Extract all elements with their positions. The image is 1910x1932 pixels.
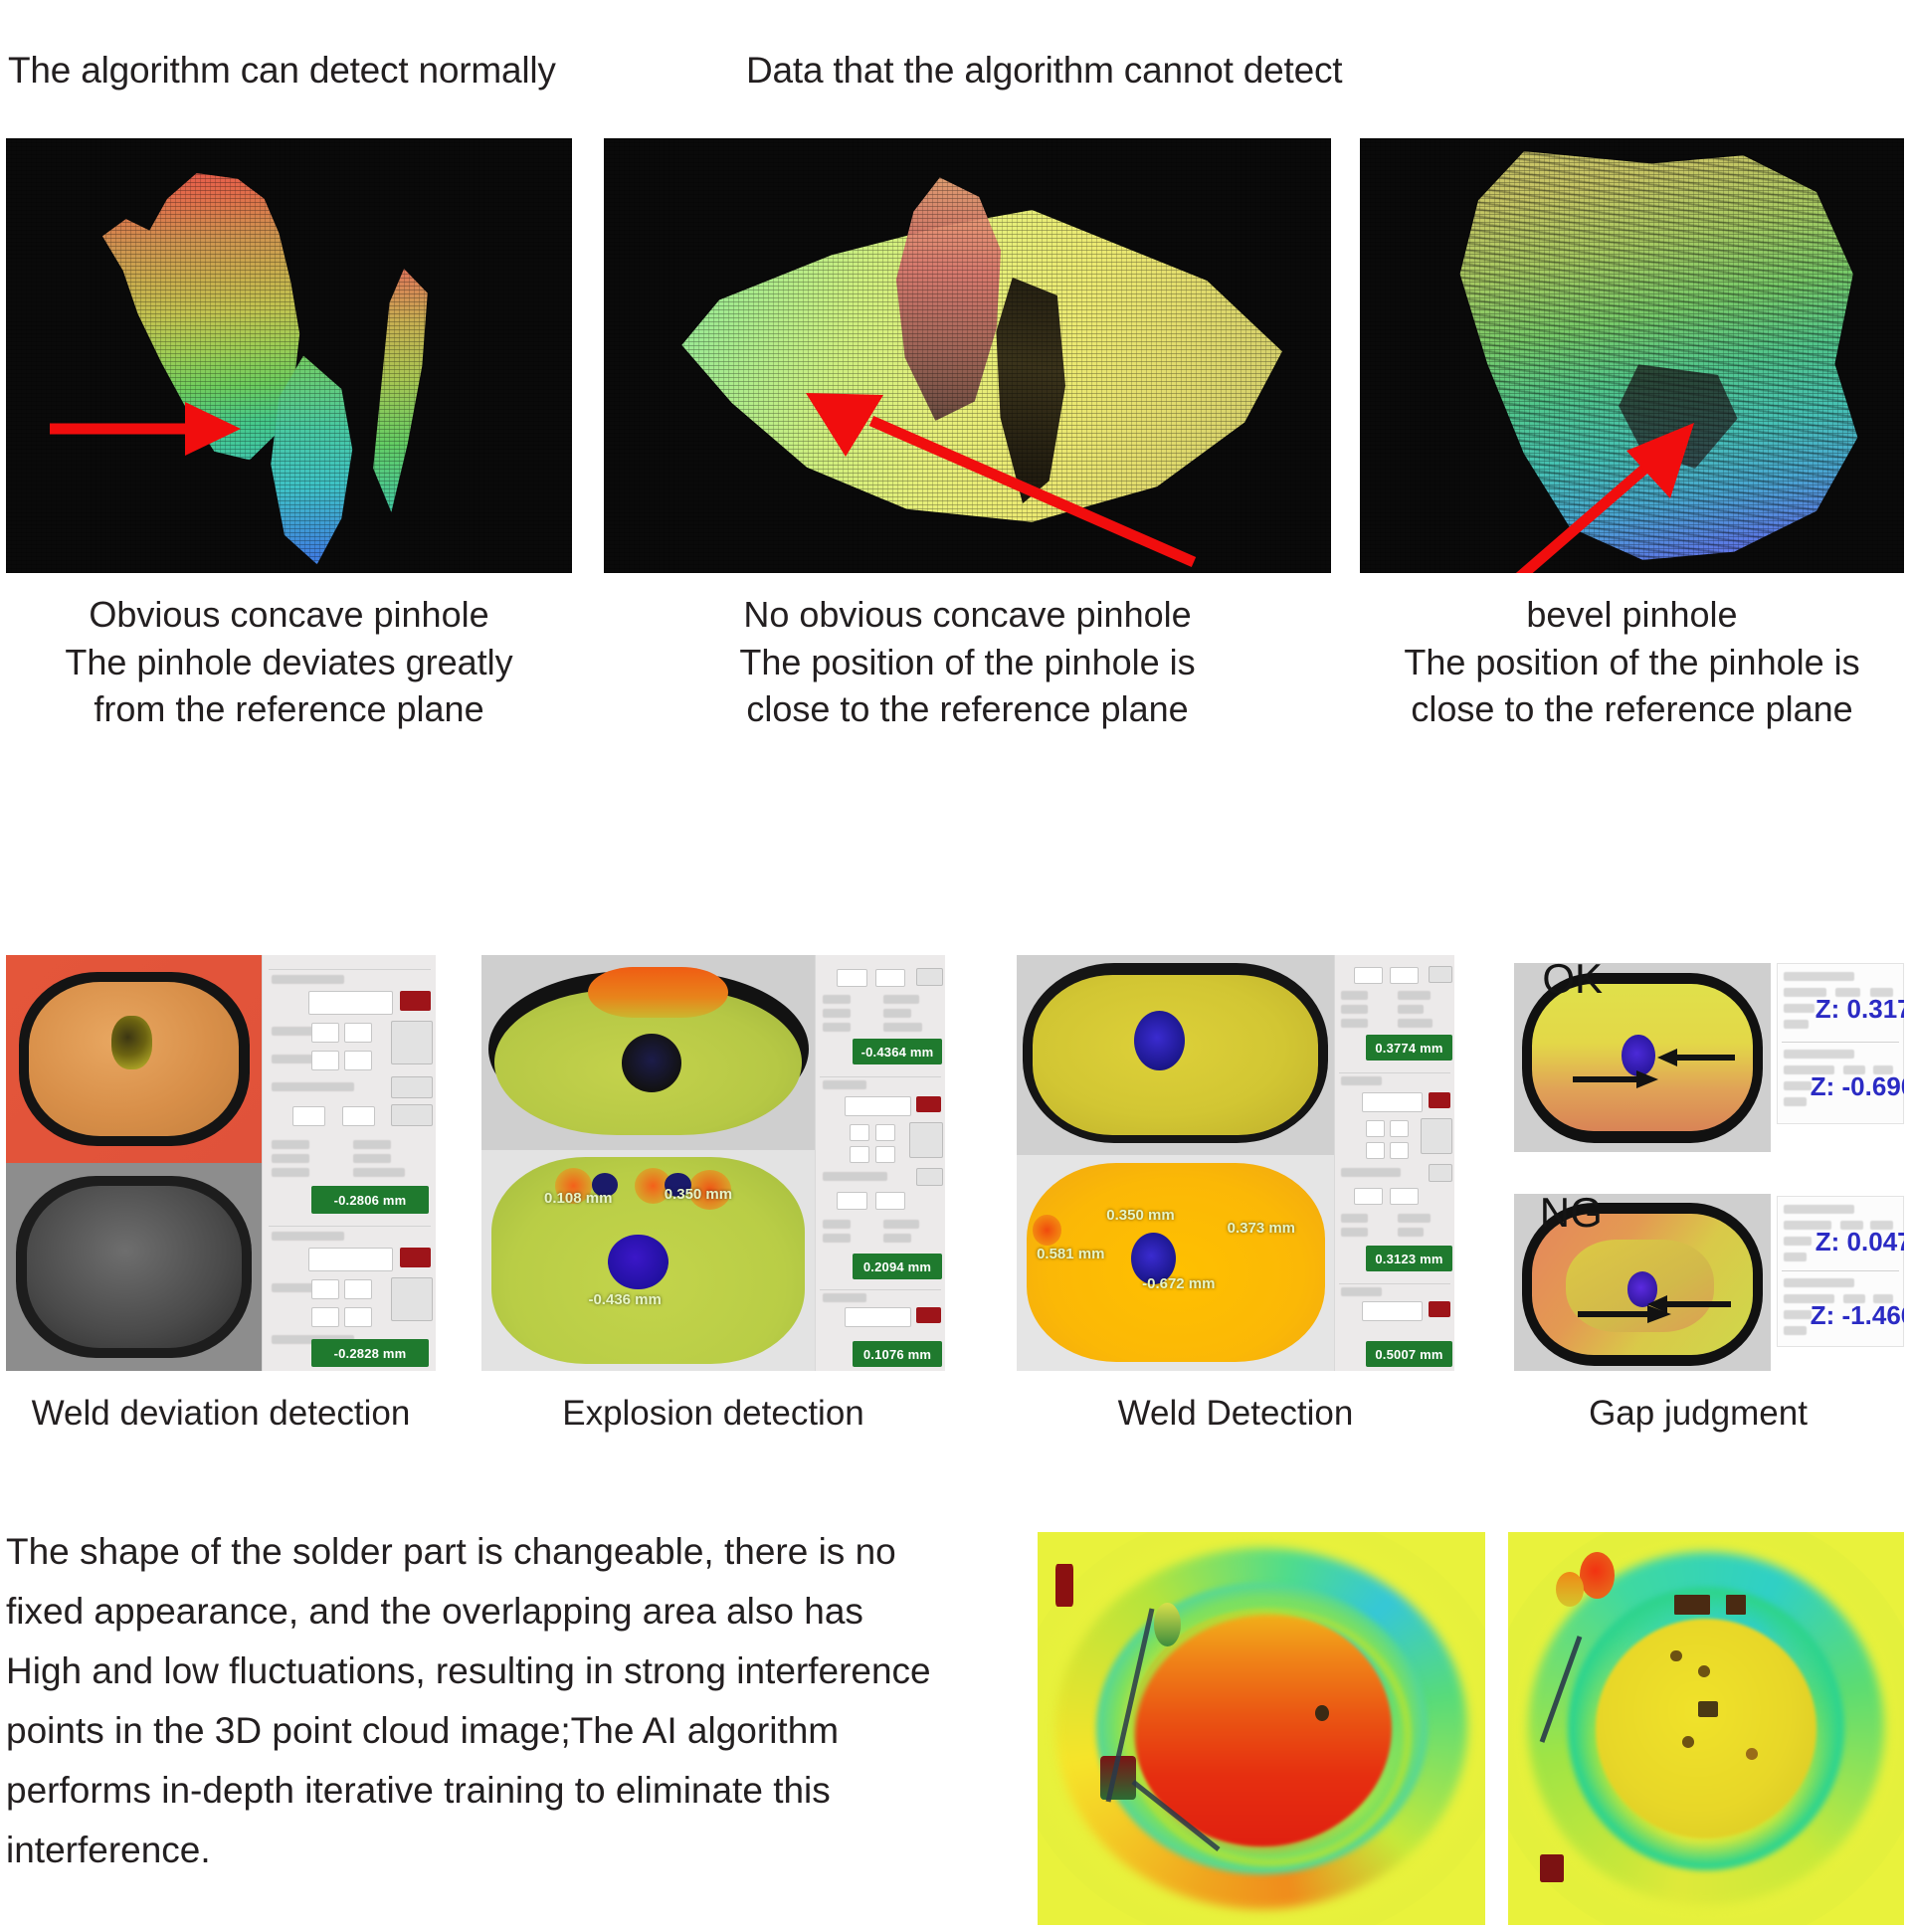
detection-panel-explosion: 0.108 mm 0.350 mm -0.436 mm -0.4364 mm [481, 955, 945, 1371]
caption-line: Obvious concave pinhole [6, 591, 572, 639]
detection-panel-weld: 0.350 mm 0.581 mm 0.373 mm -0.672 mm [1017, 955, 1454, 1371]
gap-z-value-bottom: Z: -1.466 [1811, 1300, 1904, 1331]
caption-line: No obvious concave pinhole [604, 591, 1331, 639]
overlay-measure-2: 0.350 mm [642, 1186, 755, 1205]
overlay-measure-value: 0.350 mm [1106, 1207, 1174, 1224]
detection-result-value: -0.2828 mm [311, 1339, 429, 1367]
header-left: The algorithm can detect normally [8, 50, 556, 93]
detection-image-3d [1017, 955, 1334, 1155]
detection-image-color [6, 955, 262, 1163]
summary-line: performs in-depth iterative training to … [6, 1761, 1011, 1821]
detection-caption-weld: Weld Detection [1017, 1393, 1454, 1435]
pointcloud-surface-main [96, 173, 391, 460]
detection-caption-gap-judgment: Gap judgment [1492, 1393, 1904, 1435]
overlay-measure-2: 0.350 mm [1099, 1207, 1182, 1226]
detection-sidepanel: -0.4364 mm 0.2094 mm 0.1076 mm [815, 955, 945, 1371]
gap-image-ok: OK [1514, 963, 1771, 1152]
pointcloud-caption-1: Obvious concave pinhole The pinhole devi… [6, 591, 572, 733]
detection-panel-weld-deviation: -0.2806 mm -0.2828 mm [6, 955, 436, 1371]
pointer-line-icon [1536, 1631, 1586, 1750]
summary-line: High and low fluctuations, resulting in … [6, 1642, 1011, 1701]
caption-line: from the reference plane [6, 685, 572, 733]
detection-image-stack: 0.350 mm 0.581 mm 0.373 mm -0.672 mm [1017, 955, 1334, 1371]
overlay-measure-4: -0.672 mm [1131, 1275, 1227, 1294]
heatmap-image-solder-ring-yellow-center [1508, 1532, 1904, 1925]
detection-sidepanel: -0.2806 mm -0.2828 mm [262, 955, 436, 1371]
overlay-measure-value: -0.672 mm [1142, 1275, 1215, 1292]
pointcloud-surface-main [1415, 151, 1871, 560]
detection-image-heatmap: 0.350 mm 0.581 mm 0.373 mm -0.672 mm [1017, 1155, 1334, 1371]
detection-sidepanel: 0.3774 mm 0.3123 mm 0.5007 mm [1334, 955, 1454, 1371]
overlay-measure-value: -0.436 mm [588, 1291, 661, 1308]
overlay-measure-value: 0.350 mm [665, 1186, 732, 1203]
heatmap-image-solder-ring-red-center [1038, 1532, 1485, 1925]
summary-line: points in the 3D point cloud image;The A… [6, 1701, 1011, 1761]
caption-line: close to the reference plane [604, 685, 1331, 733]
overlay-measure-3: 0.373 mm [1214, 1220, 1309, 1239]
detection-result-value: 0.3774 mm [1366, 1035, 1451, 1061]
overlay-measure-1: 0.581 mm [1027, 1246, 1115, 1264]
gap-z-value-bottom: Z: -0.690 [1811, 1071, 1904, 1102]
gap-z-value-top: Z: 0.317 [1815, 994, 1904, 1025]
caption-line: The pinhole deviates greatly [6, 639, 572, 686]
detection-result-value: 0.3123 mm [1366, 1246, 1451, 1271]
pointcloud-surface-spur [357, 269, 448, 512]
overlay-measure-1: 0.108 mm [528, 1190, 629, 1209]
detection-image-stack: 0.108 mm 0.350 mm -0.436 mm [481, 955, 815, 1371]
overlay-measure-value: 0.108 mm [544, 1190, 612, 1207]
pointcloud-image-no-obvious-concave-pinhole [604, 138, 1331, 573]
gap-arrow-left-icon [1657, 1047, 1737, 1068]
detection-image-grayscale [6, 1163, 262, 1371]
pointcloud-caption-2: No obvious concave pinhole The position … [604, 591, 1331, 733]
slide-root: The algorithm can detect normally Data t… [0, 0, 1910, 1932]
summary-line: The shape of the solder part is changeab… [6, 1522, 1011, 1582]
summary-line: fixed appearance, and the overlapping ar… [6, 1582, 1011, 1642]
summary-paragraph: The shape of the solder part is changeab… [6, 1522, 1011, 1880]
gap-image-ng: NG [1514, 1194, 1771, 1371]
pointcloud-image-bevel-pinhole [1360, 138, 1904, 573]
pointcloud-caption-3: bevel pinhole The position of the pinhol… [1360, 591, 1904, 733]
caption-line: The position of the pinhole is [1360, 639, 1904, 686]
overlay-measure-value: 0.581 mm [1037, 1246, 1104, 1262]
detection-caption-explosion: Explosion detection [481, 1393, 945, 1435]
detection-image-3d [481, 955, 815, 1150]
summary-line: interference. [6, 1821, 1011, 1880]
pointcloud-scanline-texture [1415, 151, 1871, 560]
detection-result-value: -0.4364 mm [853, 1039, 943, 1064]
gap-verdict-ok: OK [1542, 963, 1603, 1003]
detection-panel-gap-judgment: OK Z: 0.317 Z: -0.690 [1492, 955, 1904, 1371]
detection-result-value: 0.1076 mm [853, 1341, 943, 1367]
gap-z-value-top: Z: 0.047 [1815, 1227, 1904, 1257]
caption-line: The position of the pinhole is [604, 639, 1331, 686]
detection-result-value: 0.2094 mm [853, 1254, 943, 1279]
overlay-measure-value: 0.373 mm [1228, 1220, 1295, 1237]
detection-image-stack [6, 955, 262, 1371]
gap-arrow-left-icon [1647, 1293, 1733, 1315]
overlay-measure-3: -0.436 mm [568, 1291, 681, 1310]
detection-caption-weld-deviation: Weld deviation detection [6, 1393, 436, 1435]
pointcloud-image-obvious-concave-pinhole [6, 138, 572, 573]
gap-sidepanel-ok: Z: 0.317 Z: -0.690 [1777, 963, 1904, 1124]
caption-line: close to the reference plane [1360, 685, 1904, 733]
header-right: Data that the algorithm cannot detect [746, 50, 1342, 93]
gap-verdict-ng: NG [1540, 1194, 1603, 1237]
detection-image-heatmap: 0.108 mm 0.350 mm -0.436 mm [481, 1150, 815, 1371]
caption-line: bevel pinhole [1360, 591, 1904, 639]
detection-result-value: 0.5007 mm [1366, 1341, 1451, 1367]
gap-sidepanel-ng: Z: 0.047 Z: -1.466 [1777, 1196, 1904, 1347]
detection-result-value: -0.2806 mm [311, 1186, 429, 1214]
gap-arrow-right-icon [1571, 1068, 1660, 1090]
pointer-line-icon [1109, 1768, 1229, 1857]
